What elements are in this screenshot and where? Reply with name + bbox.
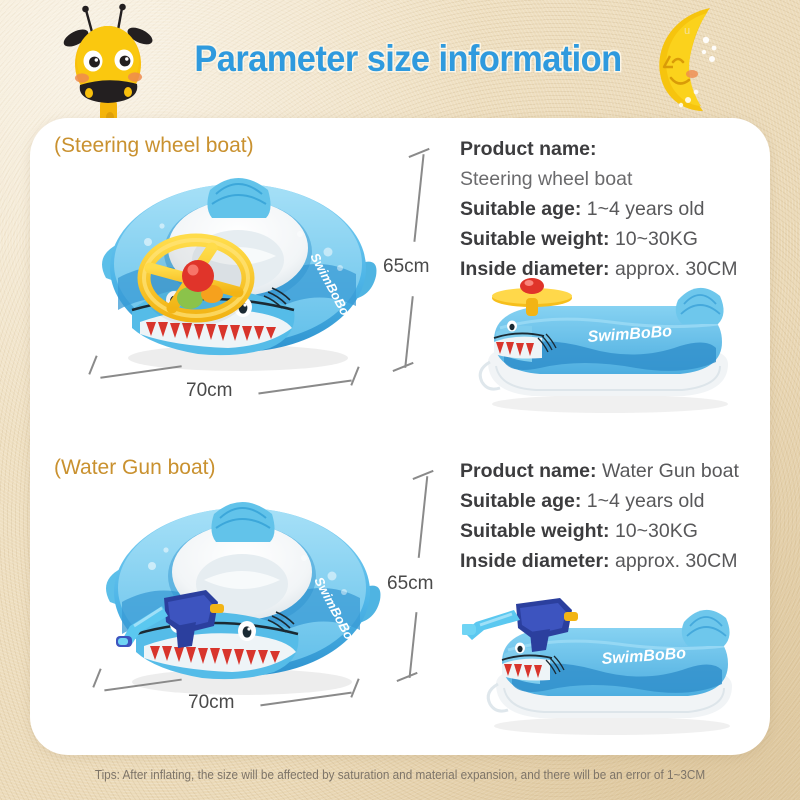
sleeping-moon-icon: u	[640, 4, 736, 114]
spec-value-suitable-age: 1~4 years old	[587, 490, 705, 512]
dimension-label-width: 70cm	[188, 692, 234, 714]
spec-key-suitable-age: Suitable age:	[460, 198, 581, 220]
spec-value-product-name: Steering wheel boat	[460, 164, 737, 194]
spec-list-steering-wheel: Product name: Steering wheel boat Suitab…	[460, 134, 737, 284]
dimension-label-width: 70cm	[186, 380, 232, 402]
product-image-water-gun: SwimBoBo	[92, 484, 392, 699]
dimension-line-height-vertical-lower	[409, 612, 417, 678]
tips-footer-text: Tips: After inflating, the size will be …	[24, 768, 776, 782]
product-image-steering-wheel: SwimBoBo	[88, 160, 388, 375]
content-card: (Steering wheel boat)	[30, 118, 770, 755]
dimension-line-height-vertical	[413, 154, 424, 242]
spec-row-suitable-weight: Suitable weight: 10~30KG	[460, 516, 739, 546]
dimension-line-height-vertical-lower	[404, 296, 413, 368]
spec-value-suitable-weight: 10~30KG	[615, 228, 698, 250]
dimension-tick-height-top	[409, 148, 430, 158]
spec-list-water-gun: Product name: Water Gun boat Suitable ag…	[460, 456, 739, 576]
dimension-label-height: 65cm	[387, 573, 433, 595]
product-side-view-water-gun: SwimBoBo	[462, 584, 754, 739]
giraffe-mascot-icon	[56, 2, 168, 132]
dimension-line-width-right	[258, 379, 351, 394]
section-label-steering-wheel: (Steering wheel boat)	[54, 134, 254, 158]
dimension-label-height: 65cm	[383, 256, 429, 278]
page-title: Parameter size information	[185, 38, 631, 80]
dimension-tick-height-top	[413, 470, 434, 480]
spec-key-suitable-age: Suitable age:	[460, 490, 581, 512]
spec-key-product-name: Product name:	[460, 138, 597, 160]
spec-key-product-name: Product name:	[460, 460, 597, 482]
spec-value-suitable-age: 1~4 years old	[587, 198, 705, 220]
svg-text:u: u	[684, 25, 690, 37]
dimension-tick-height-bottom	[393, 362, 414, 372]
spec-row-product-name: Product name: Water Gun boat	[460, 456, 739, 486]
product-section-steering-wheel: (Steering wheel boat)	[30, 118, 770, 436]
dimension-line-height-vertical	[418, 476, 428, 558]
spec-row-inside-diameter: Inside diameter: approx. 30CM	[460, 546, 739, 576]
spec-value-inside-diameter: approx. 30CM	[615, 550, 737, 572]
section-label-water-gun: (Water Gun boat)	[54, 456, 215, 480]
spec-key-suitable-weight: Suitable weight:	[460, 520, 610, 542]
spec-key-inside-diameter: Inside diameter:	[460, 550, 610, 572]
product-side-view-steering-wheel: SwimBoBo	[470, 266, 750, 416]
spec-row-product-name: Product name:	[460, 134, 737, 164]
page-header: u Parameter size information	[0, 0, 800, 120]
spec-row-suitable-weight: Suitable weight: 10~30KG	[460, 224, 737, 254]
spec-key-suitable-weight: Suitable weight:	[460, 228, 610, 250]
spec-value-product-name: Water Gun boat	[602, 460, 739, 482]
spec-row-suitable-age: Suitable age: 1~4 years old	[460, 194, 737, 224]
spec-value-suitable-weight: 10~30KG	[615, 520, 698, 542]
dimension-tick-height-bottom	[397, 672, 418, 682]
spec-row-suitable-age: Suitable age: 1~4 years old	[460, 486, 739, 516]
product-section-water-gun: (Water Gun boat)	[30, 436, 770, 755]
